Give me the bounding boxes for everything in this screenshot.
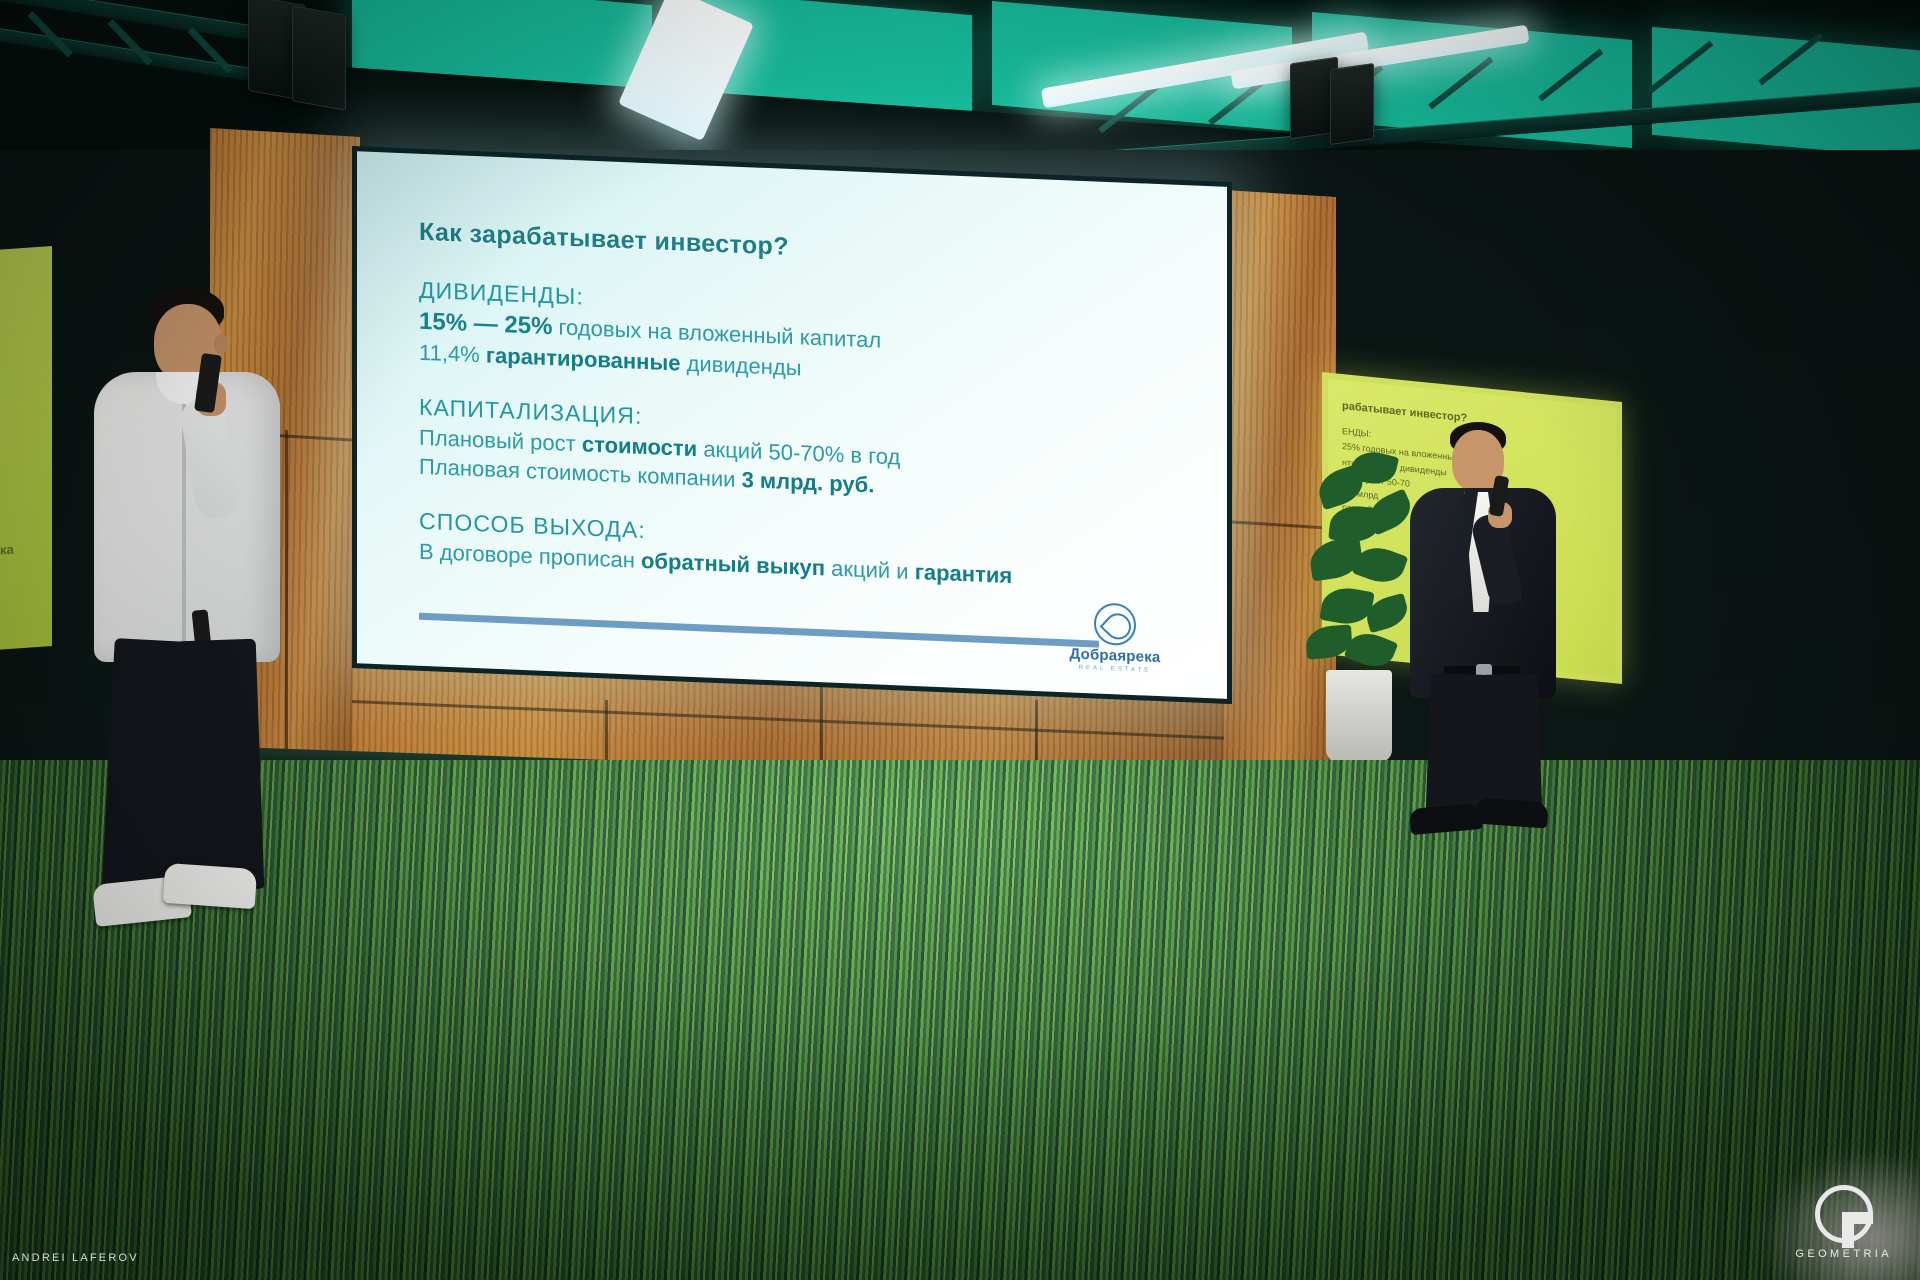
ceiling-speaker [292, 5, 346, 111]
brand-watermark-text: GEOMETRIA [1795, 1248, 1892, 1260]
guaranteed-word: гарантированные [486, 343, 681, 376]
projection-screen: Как зарабатывает инвестор? ДИВИДЕНДЫ: 15… [352, 146, 1232, 704]
ear [214, 334, 228, 354]
slide-section-dividends: ДИВИДЕНДЫ: 15% — 25% годовых на вложенны… [419, 277, 1173, 399]
wood-panel [1224, 190, 1336, 777]
company-logo: Добраярека REAL ESTATE [1049, 601, 1181, 675]
left-panel-label: ка [0, 542, 14, 558]
presentation-slide: Как зарабатывает инвестор? ДИВИДЕНДЫ: 15… [357, 151, 1227, 699]
logo-name: Добраярека [1070, 645, 1161, 666]
exit-strong: обратный выкуп [641, 547, 825, 580]
growth-strong: стоимости [582, 431, 697, 461]
river-drop-icon [1094, 602, 1136, 646]
value-strong: 3 млрд. руб. [742, 467, 875, 497]
geometria-logo-icon [1815, 1185, 1873, 1243]
logo-subtitle: REAL ESTATE [1079, 665, 1152, 674]
ceiling-speaker [1330, 63, 1374, 145]
shoe-right [163, 863, 258, 909]
left-wall-panel: ка [0, 246, 52, 650]
dividend-range: 15% — 25% [419, 308, 552, 340]
photo-stage: ка Как зарабатывает инвестор? ДИВИДЕНДЫ:… [0, 0, 1920, 1280]
photographer-watermark: ANDREI LAFEROV [12, 1252, 139, 1264]
shoe-left [1409, 803, 1483, 835]
speaker-person-left [78, 280, 298, 920]
exit-pre: В договоре прописан [419, 538, 641, 572]
slide-divider-rule [419, 613, 1099, 648]
plant-pot [1326, 670, 1392, 762]
slide-title: Как зарабатывает инвестор? [419, 218, 1173, 278]
slide-section-capitalization: КАПИТАЛИЗАЦИЯ: Плановый рост стоимости а… [419, 393, 1173, 512]
guaranteed-rate: 11,4% [419, 340, 486, 368]
shoe-right [1475, 798, 1549, 829]
guaranteed-rest: дивиденды [680, 351, 801, 381]
leg-right [176, 639, 265, 892]
exit-mid: акций и [825, 555, 915, 584]
exit-strong-2: гарантия [915, 559, 1013, 588]
speaker-person-right [1392, 418, 1582, 838]
slide-section-exit: СПОСОБ ВЫХОДА: В договоре прописан обрат… [419, 507, 1173, 596]
growth-pre: Плановый рост [419, 424, 582, 456]
brand-watermark: GEOMETRIA [1795, 1185, 1892, 1260]
